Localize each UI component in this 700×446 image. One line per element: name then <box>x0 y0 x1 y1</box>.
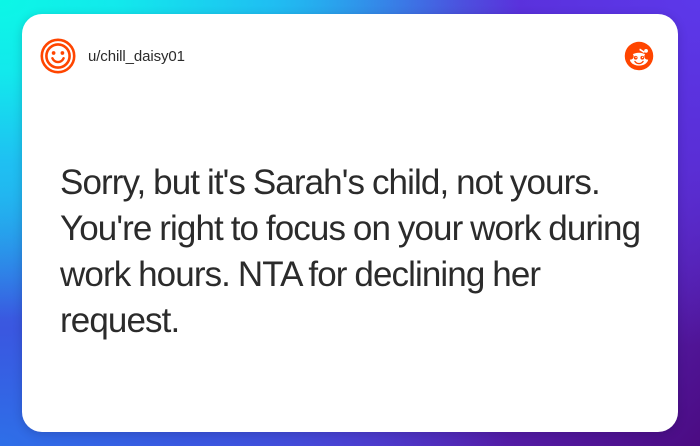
smiley-face-icon <box>40 38 76 74</box>
comment-body-text: Sorry, but it's Sarah's child, not yours… <box>60 160 660 344</box>
author-username[interactable]: u/chill_daisy01 <box>88 48 185 65</box>
reddit-snoo-icon[interactable] <box>624 41 654 71</box>
card-header: u/chill_daisy01 <box>22 14 678 98</box>
reddit-comment-card: u/chill_daisy01 Sorry, but it's Sarah's … <box>22 14 678 432</box>
